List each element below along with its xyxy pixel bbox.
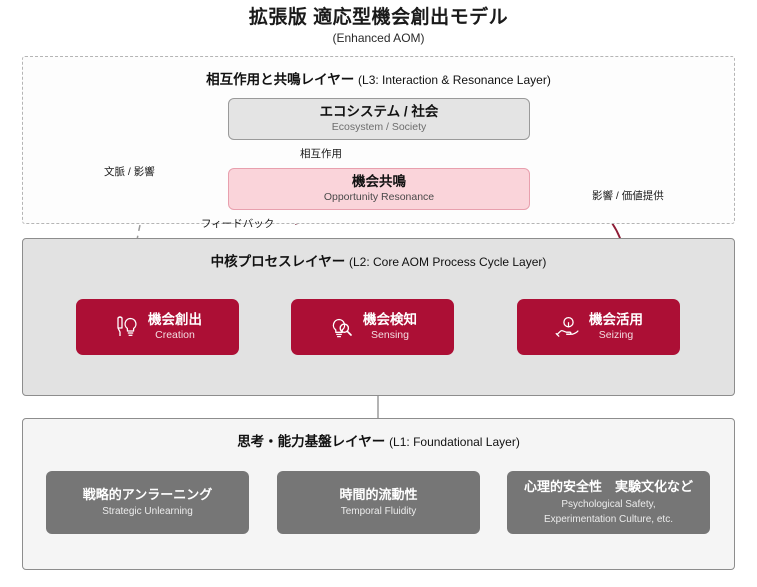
box-ecosystem-label-en: Ecosystem / Society (332, 121, 427, 135)
layer-l1-title-ja: 思考・能力基盤レイヤー (237, 434, 385, 449)
layer-l3-title: 相互作用と共鳴レイヤー (L3: Interaction & Resonance… (23, 68, 734, 88)
edge-label-impact-value: 影響 / 価値提供 (592, 188, 664, 203)
layer-l2-title: 中核プロセスレイヤー (L2: Core AOM Process Cycle L… (23, 250, 734, 270)
page-title-en: (Enhanced AOM) (0, 31, 757, 47)
layer-l1-title: 思考・能力基盤レイヤー (L1: Foundational Layer) (23, 430, 734, 450)
layer-l2-title-en: (L2: Core AOM Process Cycle Layer) (349, 255, 546, 269)
box-fluidity-label-en: Temporal Fluidity (341, 505, 417, 518)
box-ecosystem-label-ja: エコシステム / 社会 (320, 104, 439, 121)
page-title: 拡張版 適応型機会創出モデル (Enhanced AOM) (0, 6, 757, 46)
box-opportunity-creation[interactable]: 機会創出 Creation (76, 299, 239, 355)
box-sensing-label-en: Sensing (371, 328, 409, 342)
box-resonance-label-en: Opportunity Resonance (324, 191, 434, 205)
box-opportunity-resonance[interactable]: 機会共鳴 Opportunity Resonance (228, 168, 530, 210)
box-safety-label-en2: Experimentation Culture, etc. (544, 513, 673, 526)
box-unlearning-label-en: Strategic Unlearning (102, 505, 193, 518)
edge-label-interaction: 相互作用 (300, 146, 342, 161)
box-safety-label-en: Psychological Safety, (561, 498, 655, 511)
layer-l1-title-en: (L1: Foundational Layer) (389, 435, 520, 449)
magnifier-lightbulb-icon (328, 314, 354, 340)
edge-label-feedback: フィードバック (201, 216, 274, 231)
box-psychological-safety[interactable]: 心理的安全性 実験文化など Psychological Safety, Expe… (507, 471, 710, 534)
box-temporal-fluidity[interactable]: 時間的流動性 Temporal Fluidity (277, 471, 480, 534)
box-safety-label-ja: 心理的安全性 実験文化など (524, 479, 693, 496)
box-creation-label-ja: 機会創出 (148, 312, 202, 328)
box-opportunity-sensing[interactable]: 機会検知 Sensing (291, 299, 454, 355)
layer-l3-title-en: (L3: Interaction & Resonance Layer) (358, 73, 551, 87)
box-ecosystem-society[interactable]: エコシステム / 社会 Ecosystem / Society (228, 98, 530, 140)
layer-l2-title-ja: 中核プロセスレイヤー (211, 254, 346, 269)
box-fluidity-label-ja: 時間的流動性 (339, 487, 417, 504)
box-seizing-label-ja: 機会活用 (589, 312, 643, 328)
box-unlearning-label-ja: 戦略的アンラーニング (83, 487, 212, 504)
box-opportunity-seizing[interactable]: 機会活用 Seizing (517, 299, 680, 355)
page-title-ja: 拡張版 適応型機会創出モデル (0, 6, 757, 30)
pen-lightbulb-icon (113, 314, 139, 340)
box-creation-label-en: Creation (155, 328, 195, 342)
box-seizing-label-en: Seizing (599, 328, 633, 342)
box-strategic-unlearning[interactable]: 戦略的アンラーニング Strategic Unlearning (46, 471, 249, 534)
hand-lightbulb-icon (554, 314, 580, 340)
box-resonance-label-ja: 機会共鳴 (352, 174, 406, 191)
edge-label-context-influence: 文脈 / 影響 (104, 164, 155, 179)
layer-l3-title-ja: 相互作用と共鳴レイヤー (206, 72, 354, 87)
box-sensing-label-ja: 機会検知 (363, 312, 417, 328)
